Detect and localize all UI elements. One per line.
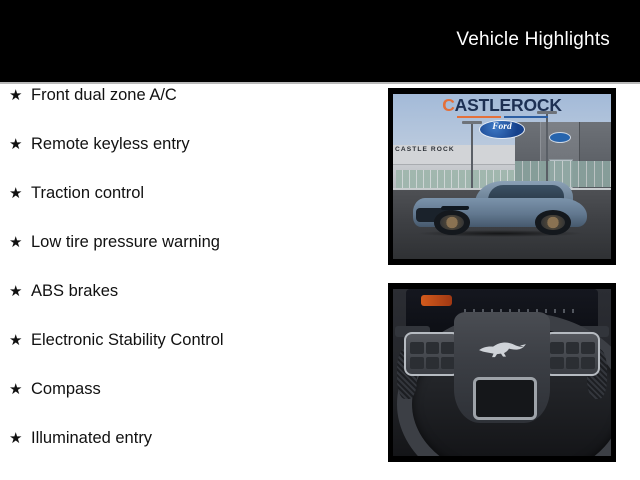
steering-button-cluster-left <box>404 332 460 376</box>
list-item-label: Electronic Stability Control <box>31 331 224 350</box>
steering-button <box>426 342 440 354</box>
star-bullet-icon: ★ <box>9 235 31 250</box>
list-item-label: Illuminated entry <box>31 429 152 448</box>
dealer-logo-bars <box>393 116 611 118</box>
exterior-photo-content: CASTLE ROCK CASTLEROC <box>393 94 611 259</box>
ford-logo-icon: Ford <box>479 120 525 139</box>
page-title: Vehicle Highlights <box>456 29 610 51</box>
list-item: ★ Electronic Stability Control <box>0 331 380 380</box>
ford-logo-text: Ford <box>480 123 524 133</box>
steering-button <box>550 342 564 354</box>
list-item-label: Front dual zone A/C <box>31 86 177 105</box>
mustang-vehicle <box>413 180 587 236</box>
list-item-label: Low tire pressure warning <box>31 233 220 252</box>
star-bullet-icon: ★ <box>9 431 31 446</box>
vehicle-highlights-list: ★ Front dual zone A/C ★ Remote keyless e… <box>0 86 380 478</box>
steering-button <box>441 342 455 354</box>
steering-button <box>566 357 580 369</box>
vehicle-rear-wheel <box>535 210 572 235</box>
list-item: ★ Compass <box>0 380 380 429</box>
steering-button <box>581 357 595 369</box>
interior-photo-content <box>393 289 611 456</box>
star-bullet-icon: ★ <box>9 88 31 103</box>
dealer-logo-initial: C <box>442 95 454 115</box>
list-item: ★ Low tire pressure warning <box>0 233 380 282</box>
vehicle-interior-photo[interactable] <box>388 283 616 462</box>
vehicle-front-wheel <box>434 210 471 235</box>
star-bullet-icon: ★ <box>9 284 31 299</box>
steering-button <box>550 357 564 369</box>
dealer-logo-rest: ASTLEROCK <box>455 95 562 115</box>
steering-button <box>441 357 455 369</box>
logo-bar-orange <box>457 116 501 118</box>
hub-chrome-trim <box>473 377 537 420</box>
steering-wheel-hub <box>454 312 550 422</box>
steering-button <box>426 357 440 369</box>
dealer-logo: CASTLEROCK Ford <box>393 97 611 139</box>
list-item: ★ Remote keyless entry <box>0 135 380 184</box>
list-item-label: ABS brakes <box>31 282 118 301</box>
steering-button-cluster-right <box>544 332 600 376</box>
steering-button <box>410 357 424 369</box>
cluster-gauge-glow <box>421 295 452 306</box>
steering-button <box>566 342 580 354</box>
star-bullet-icon: ★ <box>9 333 31 348</box>
logo-bar-blue <box>504 116 548 118</box>
building-sign-text: CASTLE ROCK <box>395 146 455 153</box>
facade-band: CASTLE ROCK <box>393 145 519 164</box>
dealer-logo-wordmark: CASTLEROCK <box>393 97 611 115</box>
star-bullet-icon: ★ <box>9 137 31 152</box>
star-bullet-icon: ★ <box>9 382 31 397</box>
header-banner: Vehicle Highlights <box>0 0 640 82</box>
list-item: ★ Front dual zone A/C <box>0 86 380 135</box>
list-item: ★ Traction control <box>0 184 380 233</box>
star-bullet-icon: ★ <box>9 186 31 201</box>
steering-button <box>410 342 424 354</box>
mustang-pony-emblem-icon <box>477 337 527 361</box>
list-item-label: Traction control <box>31 184 144 203</box>
header-divider <box>0 82 640 84</box>
list-item-label: Compass <box>31 380 101 399</box>
steering-button <box>581 342 595 354</box>
list-item: ★ ABS brakes <box>0 282 380 331</box>
list-item-label: Remote keyless entry <box>31 135 190 154</box>
list-item: ★ Illuminated entry <box>0 429 380 478</box>
vehicle-exterior-photo[interactable]: CASTLE ROCK CASTLEROC <box>388 88 616 265</box>
